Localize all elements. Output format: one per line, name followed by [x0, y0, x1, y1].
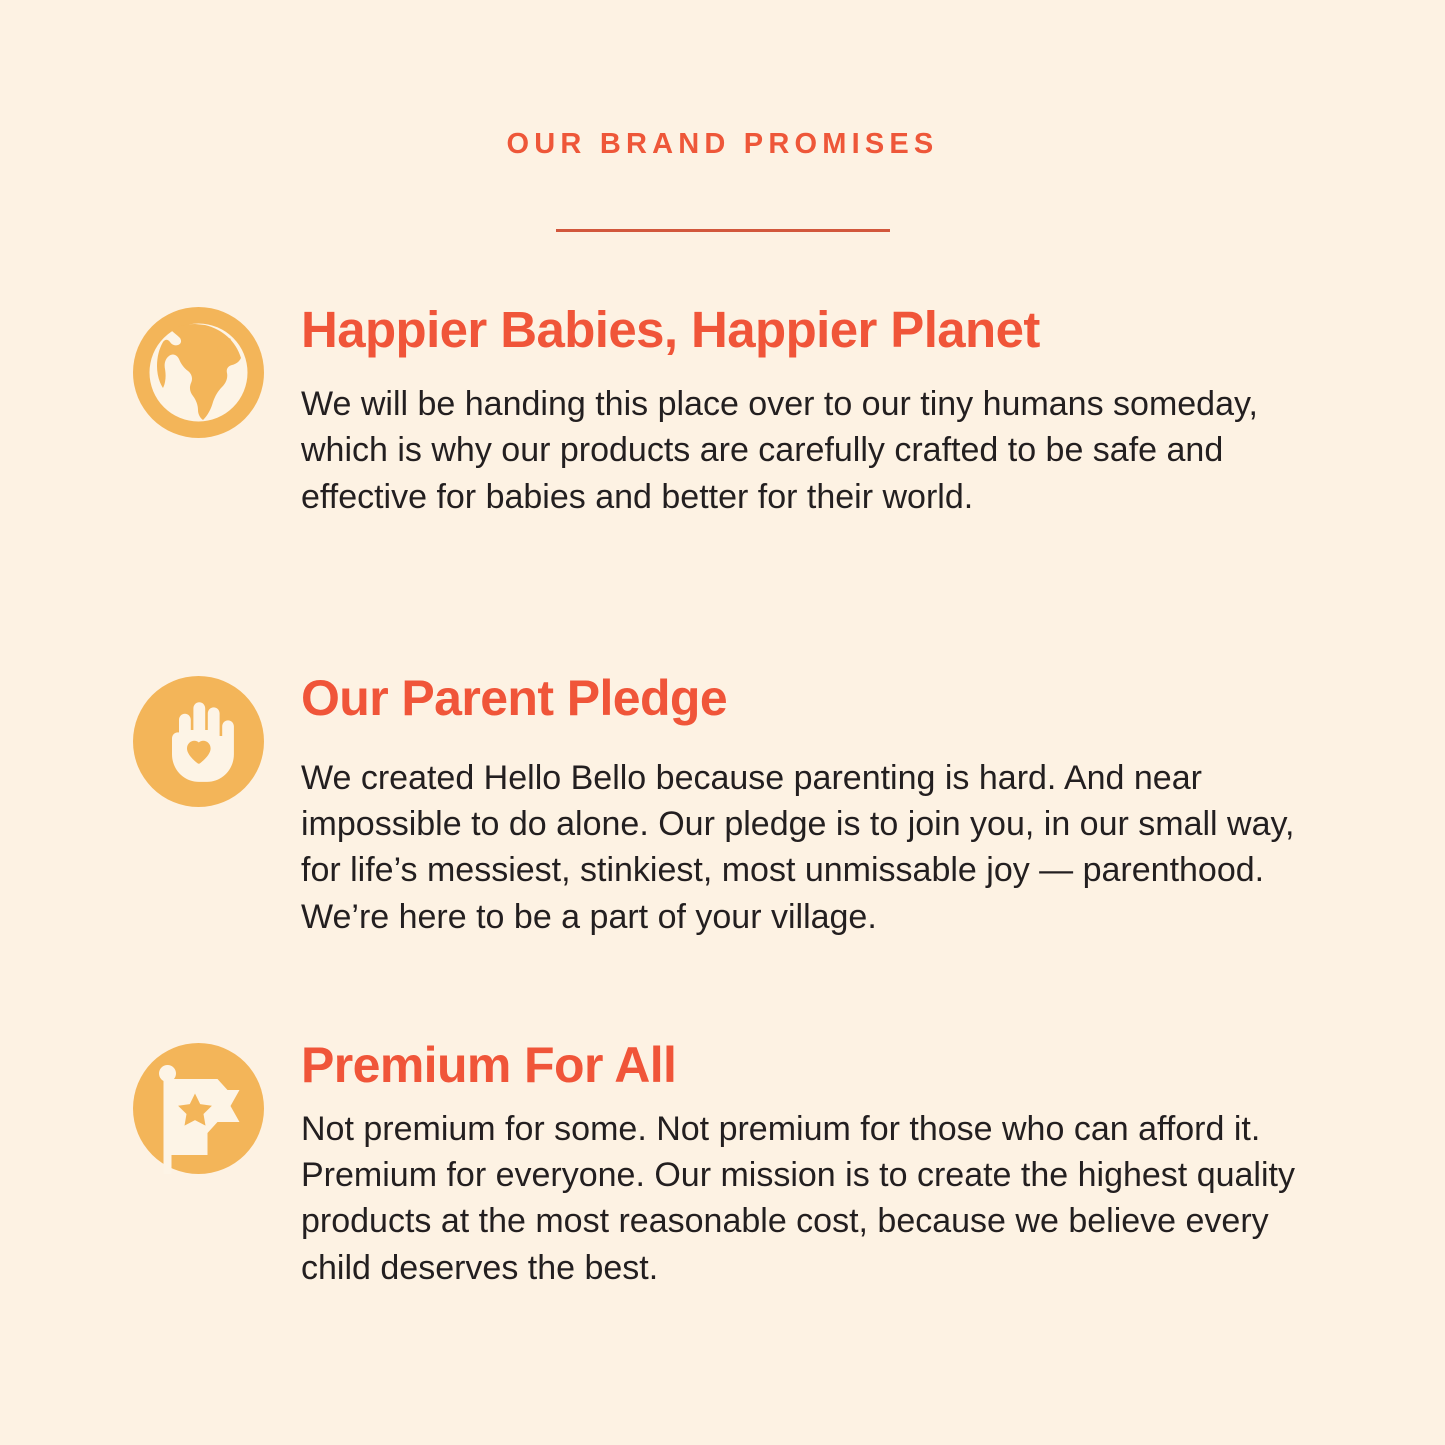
- promise-title: Happier Babies, Happier Planet: [301, 303, 1323, 357]
- hand-heart-icon: [133, 676, 264, 807]
- promise-description: We created Hello Bello because parenting…: [301, 755, 1323, 940]
- page-eyebrow-title: OUR BRAND PROMISES: [0, 128, 1445, 161]
- promise-content: Our Parent Pledge We created Hello Bello…: [301, 672, 1323, 940]
- promise-content: Premium For All Not premium for some. No…: [301, 1039, 1323, 1291]
- promise-title: Our Parent Pledge: [301, 672, 1323, 725]
- promise-item: Happier Babies, Happier Planet We will b…: [133, 303, 1323, 520]
- promise-description: Not premium for some. Not premium for th…: [301, 1106, 1323, 1291]
- flag-star-icon: [133, 1043, 264, 1174]
- promise-description: We will be handing this place over to ou…: [301, 381, 1311, 520]
- promise-item: Premium For All Not premium for some. No…: [133, 1039, 1323, 1291]
- promise-item: Our Parent Pledge We created Hello Bello…: [133, 672, 1323, 940]
- promise-content: Happier Babies, Happier Planet We will b…: [301, 303, 1323, 520]
- promise-title: Premium For All: [301, 1039, 1323, 1092]
- globe-icon: [133, 307, 264, 438]
- title-divider: [556, 229, 890, 232]
- brand-promises-page: OUR BRAND PROMISES Happier Babies, Happi…: [0, 0, 1445, 1445]
